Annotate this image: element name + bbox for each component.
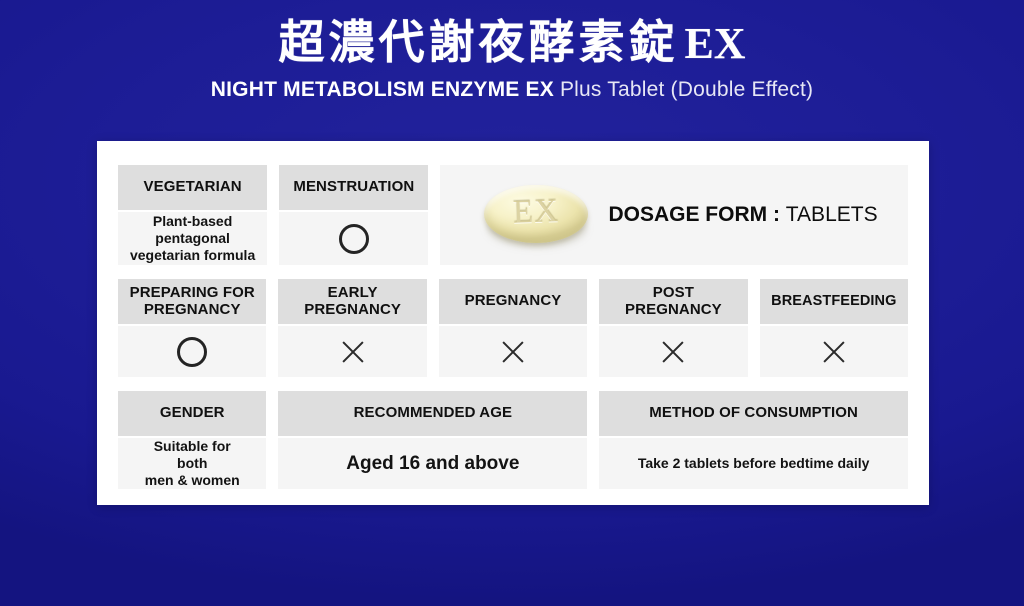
spec-cell-vegetarian: VEGETARIAN Plant-basedpentagonalvegetari… <box>118 165 267 265</box>
spec-cell-recommended-age: RECOMMENDED AGE Aged 16 and above <box>278 391 587 489</box>
spec-cell-gender-body: Suitable forbothmen & women <box>118 438 266 489</box>
spec-cell-early-pregnancy-body <box>278 326 426 377</box>
spec-cell-dosage-form: EX DOSAGE FORM : TABLETS <box>440 165 908 265</box>
spec-cell-gender: GENDER Suitable forbothmen & women <box>118 391 266 489</box>
dosage-form-value: TABLETS <box>786 203 878 226</box>
dosage-form-separator: : <box>767 203 786 226</box>
dosage-form-text: DOSAGE FORM : TABLETS <box>608 203 877 227</box>
product-subtitle-light: Plus Tablet (Double Effect) <box>560 78 813 101</box>
product-subtitle-strong: NIGHT METABOLISM ENZYME EX <box>211 78 554 101</box>
spec-cell-preparing-for-pregnancy: PREPARING FORPREGNANCY <box>118 279 266 377</box>
spec-cell-preparing-for-pregnancy-body <box>118 326 266 377</box>
spec-cell-method-of-consumption-body: Take 2 tablets before bedtime daily <box>599 438 908 489</box>
spec-cell-breastfeeding-body <box>760 326 908 377</box>
spec-cell-breastfeeding-header: BREASTFEEDING <box>760 279 908 324</box>
spec-cell-preparing-for-pregnancy-header: PREPARING FORPREGNANCY <box>118 279 266 324</box>
spec-cell-gender-header: GENDER <box>118 391 266 436</box>
tablet-image: EX <box>482 179 590 251</box>
spec-cell-vegetarian-header: VEGETARIAN <box>118 165 267 210</box>
spec-cell-post-pregnancy-header: POSTPREGNANCY <box>599 279 747 324</box>
spec-cell-pregnancy-body <box>439 326 587 377</box>
dosage-panel: EX DOSAGE FORM : TABLETS <box>440 165 908 265</box>
cross-icon <box>820 338 848 366</box>
tablet-body: EX <box>484 185 588 243</box>
spec-cell-menstruation-body <box>279 212 428 265</box>
cross-icon <box>499 338 527 366</box>
spec-row-2: PREPARING FORPREGNANCY EARLYPREGNANCY PR… <box>118 279 908 377</box>
spec-row-1: VEGETARIAN Plant-basedpentagonalvegetari… <box>118 165 908 265</box>
spec-cell-early-pregnancy-header: EARLYPREGNANCY <box>278 279 426 324</box>
spec-cell-early-pregnancy: EARLYPREGNANCY <box>278 279 426 377</box>
cross-icon <box>339 338 367 366</box>
circle-icon <box>177 337 207 367</box>
product-title-cjk: 超濃代謝夜酵素錠EX <box>0 14 1024 72</box>
spec-cell-recommended-age-header: RECOMMENDED AGE <box>278 391 587 436</box>
spec-cell-post-pregnancy: POSTPREGNANCY <box>599 279 747 377</box>
product-subtitle: NIGHT METABOLISM ENZYME EXPlus Tablet (D… <box>0 78 1024 101</box>
spec-cell-recommended-age-body: Aged 16 and above <box>278 438 587 489</box>
spec-cell-vegetarian-body: Plant-basedpentagonalvegetarian formula <box>118 212 267 265</box>
title-block: 超濃代謝夜酵素錠EX NIGHT METABOLISM ENZYME EXPlu… <box>0 14 1024 101</box>
spec-cell-post-pregnancy-body <box>599 326 747 377</box>
spec-cell-menstruation-header: MENSTRUATION <box>279 165 428 210</box>
spec-row-3: GENDER Suitable forbothmen & women RECOM… <box>118 391 908 489</box>
spec-cell-pregnancy: PREGNANCY <box>439 279 587 377</box>
product-spec-banner: 超濃代謝夜酵素錠EX NIGHT METABOLISM ENZYME EXPlu… <box>0 0 1024 606</box>
spec-cell-method-of-consumption: METHOD OF CONSUMPTION Take 2 tablets bef… <box>599 391 908 489</box>
spec-card: VEGETARIAN Plant-basedpentagonalvegetari… <box>97 141 929 505</box>
spec-cell-method-of-consumption-header: METHOD OF CONSUMPTION <box>599 391 908 436</box>
cross-icon <box>659 338 687 366</box>
spec-cell-menstruation: MENSTRUATION <box>279 165 428 265</box>
product-title-ex-suffix: EX <box>684 19 745 68</box>
dosage-form-label: DOSAGE FORM <box>608 203 767 226</box>
product-title-cjk-text: 超濃代謝夜酵素錠 <box>278 15 678 69</box>
spec-cell-breastfeeding: BREASTFEEDING <box>760 279 908 377</box>
spec-cell-pregnancy-header: PREGNANCY <box>439 279 587 324</box>
tablet-emboss-text: EX <box>513 193 560 232</box>
circle-icon <box>339 224 369 254</box>
